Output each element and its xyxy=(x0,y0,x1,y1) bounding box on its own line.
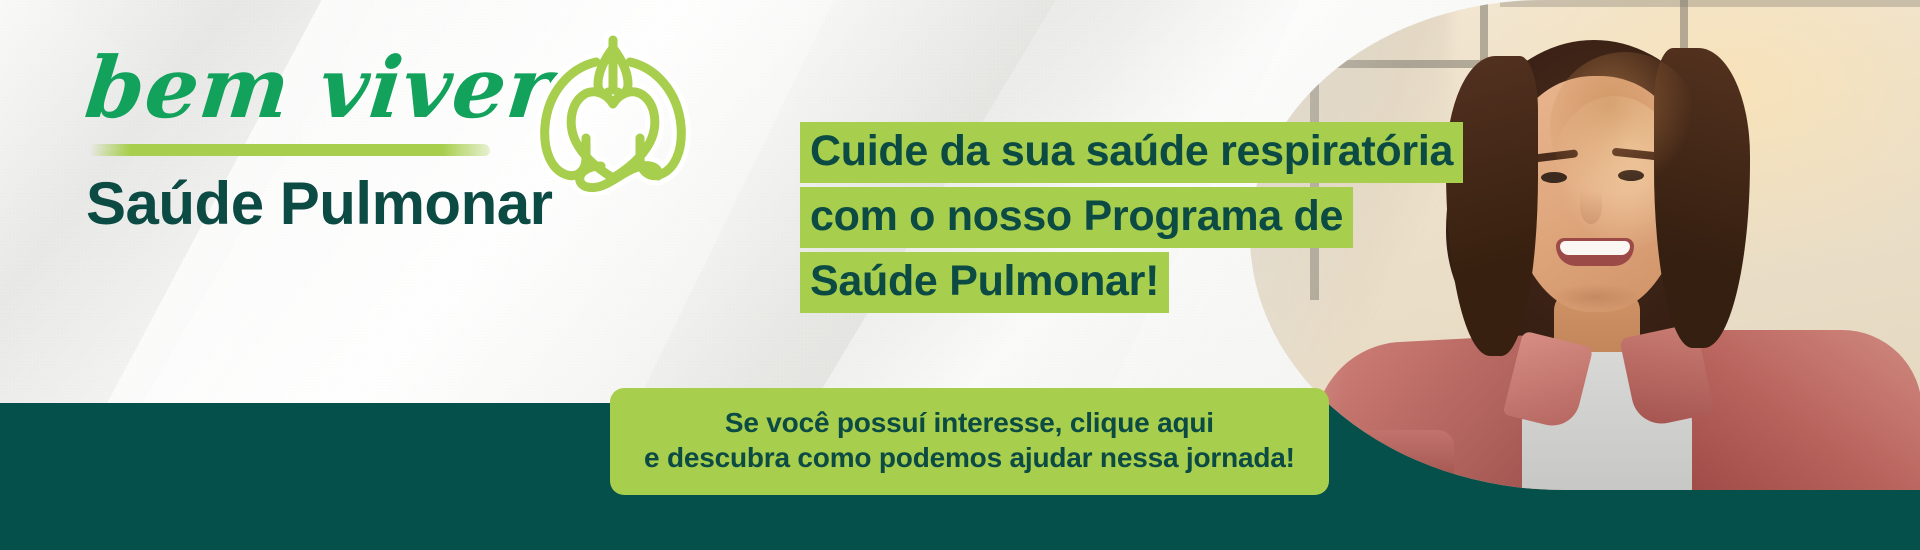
cta-line-1: Se você possuí interesse, clique aqui xyxy=(644,405,1295,440)
headline-line-2: com o nosso Programa de xyxy=(800,187,1353,248)
headline-line-1: Cuide da sua saúde respiratória xyxy=(800,122,1463,183)
promo-banner: bem viver Saúde Pulmonar xyxy=(0,0,1920,550)
headline-block: Cuide da sua saúde respiratória com o no… xyxy=(800,122,1463,313)
brush-underline xyxy=(90,144,490,156)
cta-button[interactable]: Se você possuí interesse, clique aqui e … xyxy=(610,388,1329,495)
lungs-heart-icon xyxy=(518,18,708,196)
headline-line-3: Saúde Pulmonar! xyxy=(800,252,1169,313)
cta-line-2: e descubra como podemos ajudar nessa jor… xyxy=(644,440,1295,475)
